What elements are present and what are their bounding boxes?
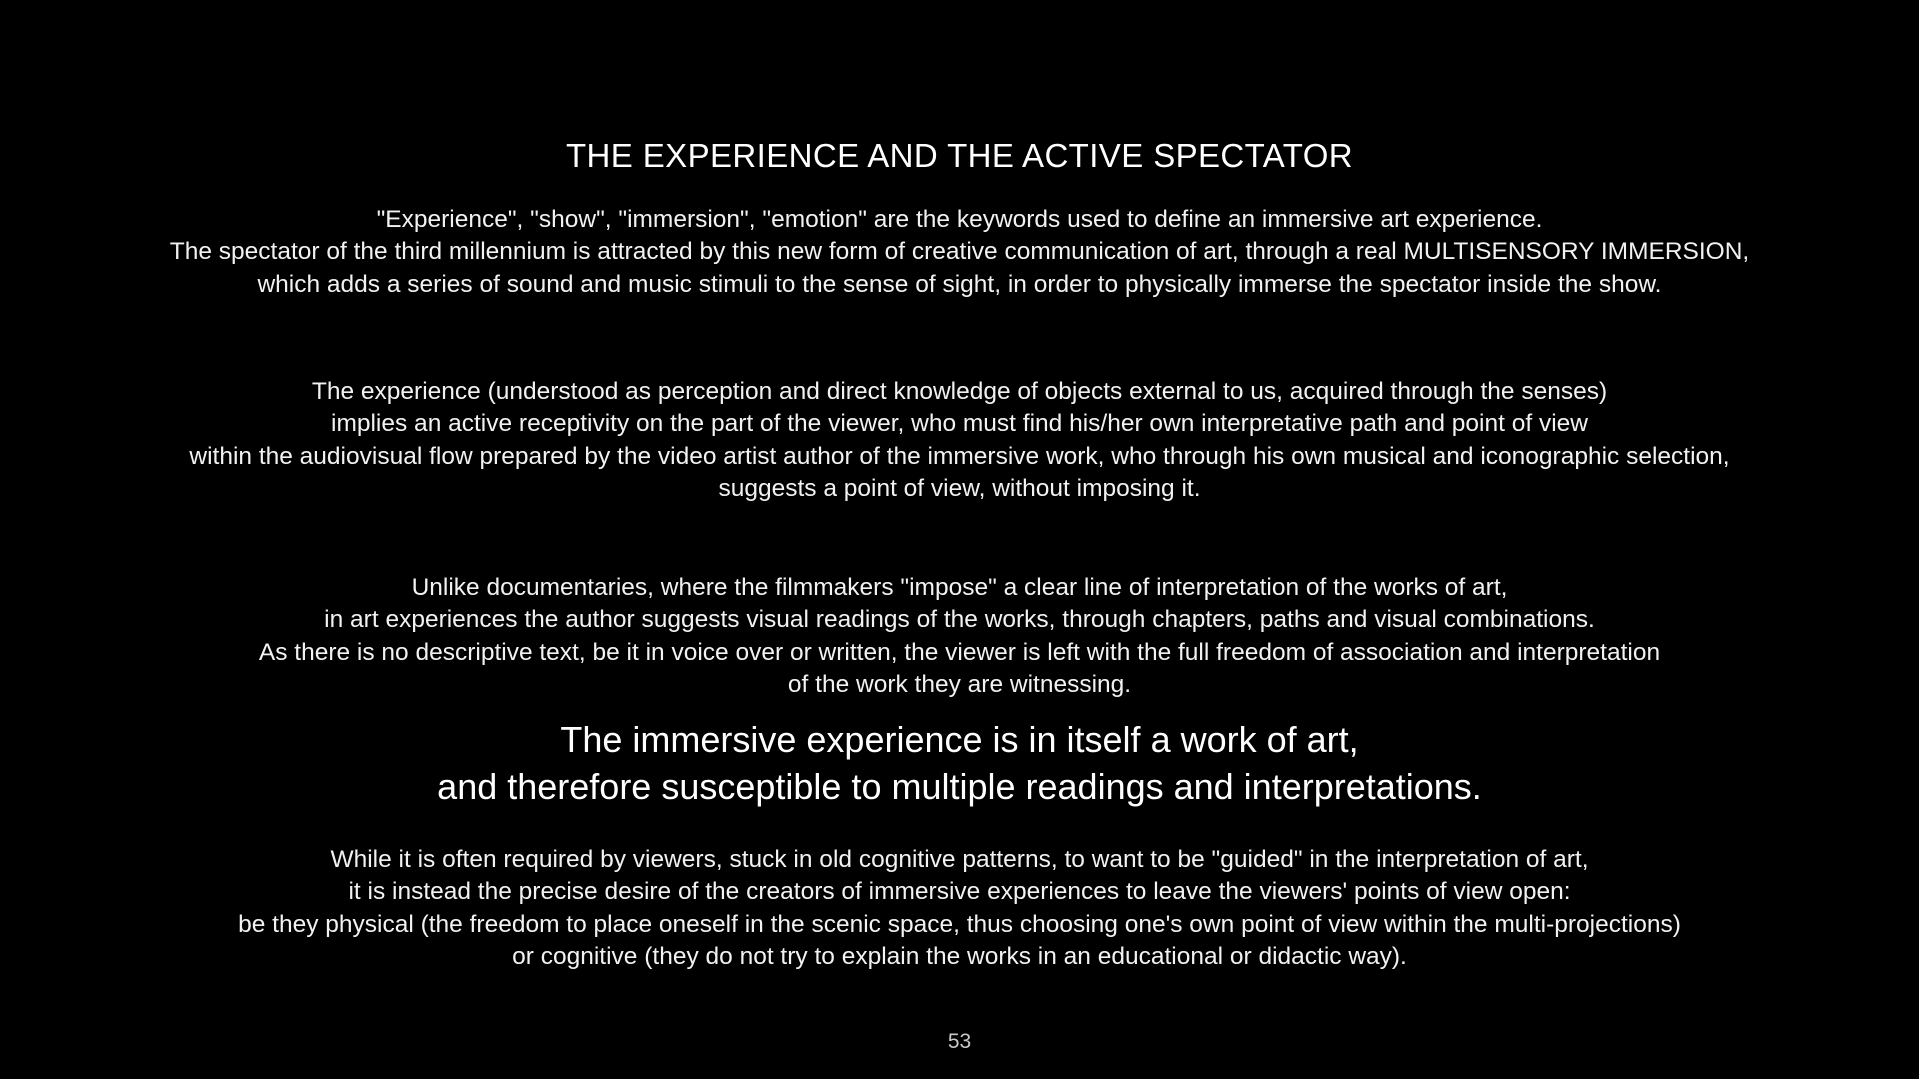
- slide-canvas: THE EXPERIENCE AND THE ACTIVE SPECTATOR …: [0, 0, 1919, 1079]
- paragraph-line: The spectator of the third millennium is…: [0, 236, 1919, 268]
- paragraph-line: suggests a point of view, without imposi…: [0, 473, 1919, 505]
- paragraph-documentaries-comparison: Unlike documentaries, where the filmmake…: [0, 572, 1919, 702]
- page-number: 53: [0, 1030, 1919, 1054]
- paragraph-line: As there is no descriptive text, be it i…: [0, 637, 1919, 669]
- paragraph-line: it is instead the precise desire of the …: [0, 876, 1919, 908]
- emphasis-line: The immersive experience is in itself a …: [0, 716, 1919, 763]
- paragraph-line: The experience (understood as perception…: [0, 376, 1919, 408]
- emphasis-statement: The immersive experience is in itself a …: [0, 716, 1919, 810]
- paragraph-line: of the work they are witnessing.: [0, 669, 1919, 701]
- paragraph-line: which adds a series of sound and music s…: [0, 269, 1919, 301]
- paragraph-line: implies an active receptivity on the par…: [0, 408, 1919, 440]
- emphasis-line: and therefore susceptible to multiple re…: [0, 763, 1919, 810]
- page-title: THE EXPERIENCE AND THE ACTIVE SPECTATOR: [0, 136, 1919, 176]
- paragraph-line: in art experiences the author suggests v…: [0, 604, 1919, 636]
- paragraph-line: While it is often required by viewers, s…: [0, 844, 1919, 876]
- paragraph-experience-definition: The experience (understood as perception…: [0, 376, 1919, 506]
- paragraph-line: or cognitive (they do not try to explain…: [0, 941, 1919, 973]
- paragraph-line: "Experience", "show", "immersion", "emot…: [0, 204, 1919, 236]
- paragraph-viewer-freedom: While it is often required by viewers, s…: [0, 844, 1919, 974]
- paragraph-line: be they physical (the freedom to place o…: [0, 909, 1919, 941]
- paragraph-line: within the audiovisual flow prepared by …: [0, 441, 1919, 473]
- paragraph-keywords: "Experience", "show", "immersion", "emot…: [0, 204, 1919, 301]
- paragraph-line: Unlike documentaries, where the filmmake…: [0, 572, 1919, 604]
